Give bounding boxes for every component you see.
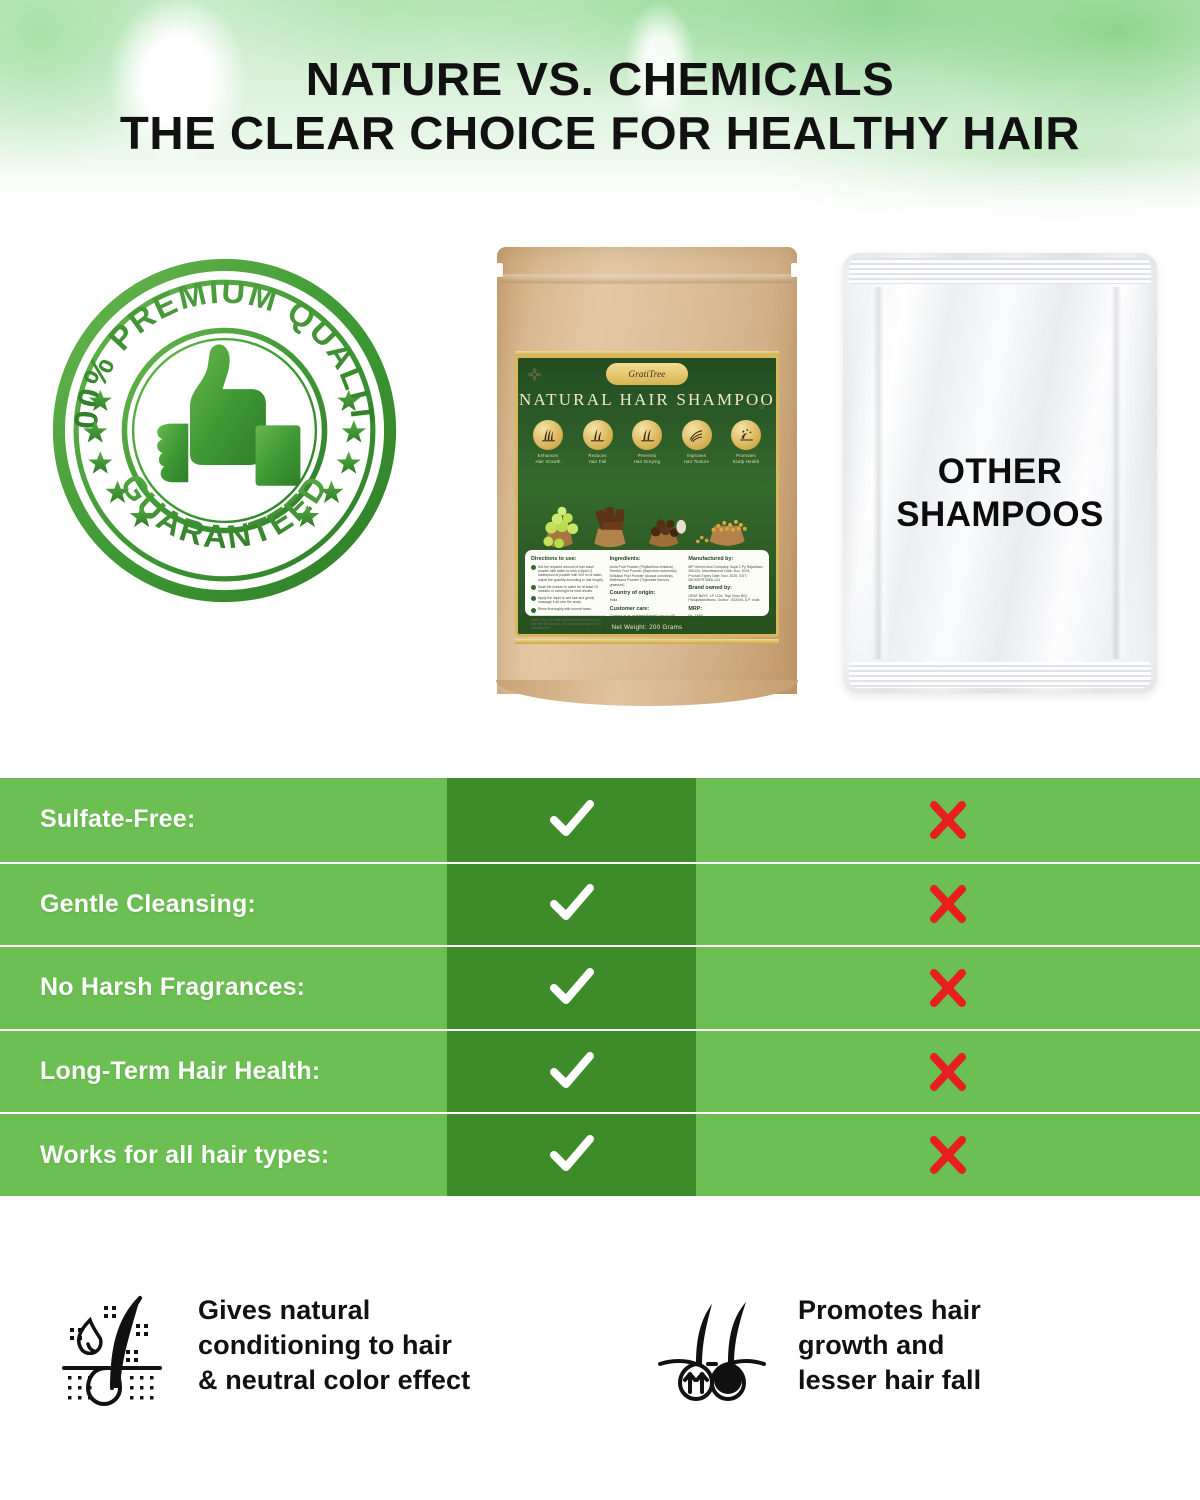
product-title: NATURAL HAIR SHAMPOO — [518, 390, 776, 410]
table-row: Long-Term Hair Health: — [0, 1029, 1200, 1113]
step-text: Mix the required amount of hair wash pow… — [538, 565, 606, 583]
benefit-label-line2: Hair Fall — [574, 459, 622, 465]
benefit-item: Improves Hair Texture — [673, 420, 721, 464]
table-row: Gentle Cleansing: — [0, 862, 1200, 946]
row-label-cell: Works for all hair types: — [0, 1114, 447, 1196]
table-row: Sulfate-Free: — [0, 778, 1200, 862]
feature-text: Gives natural conditioning to hair & neu… — [198, 1293, 470, 1398]
direction-step: Mix the required amount of hair wash pow… — [531, 565, 606, 583]
direction-step: Soak the mixture in water for at least 1… — [531, 585, 606, 594]
row-label-cell: No Harsh Fragrances: — [0, 947, 447, 1029]
table-row: Works for all hair types: — [0, 1112, 1200, 1196]
other-shampoos-line-1: OTHER — [843, 450, 1157, 493]
premium-quality-badge: 100% PREMIUM QUALITY GUARANTEED — [52, 258, 397, 603]
ours-cell — [447, 947, 696, 1029]
ingredients-column: Ingredients: Amla Fruit Powder (Phyllant… — [610, 556, 685, 612]
label-gold-bar-bottom — [515, 639, 779, 644]
benefit-item: Prevents Hair Greying — [623, 420, 671, 464]
row-label-cell: Sulfate-Free: — [0, 778, 447, 862]
table-row: No Harsh Fragrances: — [0, 945, 1200, 1029]
label-info-panel: Directions to use: Mix the required amou… — [525, 550, 769, 616]
step-bullet — [531, 565, 536, 570]
page-title: NATURE VS. CHEMICALS THE CLEAR CHOICE FO… — [0, 52, 1200, 160]
hair-fall-icon — [583, 420, 613, 450]
ingredients-heading: Ingredients: — [610, 556, 685, 562]
directions-column: Directions to use: Mix the required amou… — [531, 556, 606, 612]
row-label-cell: Gentle Cleansing: — [0, 864, 447, 946]
other-shampoos-line-2: SHAMPOOS — [843, 493, 1157, 536]
row-label: Long-Term Hair Health: — [0, 1057, 320, 1086]
hair-follicle-growth-arrows-icon — [652, 1280, 772, 1410]
ours-cell — [447, 1114, 696, 1196]
feature-line-2: growth and — [798, 1328, 981, 1363]
benefit-icon-row: Enhances Hair Growth Reduces Hair Fall P… — [524, 420, 770, 464]
hair-follicle-droplet-icon — [52, 1280, 172, 1410]
brand-logo: GratiTree — [606, 363, 688, 385]
ingredients-text: Amla Fruit Powder (Phyllanthus emblica),… — [610, 565, 685, 588]
ornament-icon-left — [528, 368, 541, 381]
cross-icon — [928, 968, 968, 1008]
brandowner-text: GRAT BAYE, LP 1126, Teja Town BIQ, Padup… — [688, 594, 763, 603]
feature-section: Gives natural conditioning to hair & neu… — [0, 1245, 1200, 1445]
feature-line-3: & neutral color effect — [198, 1363, 470, 1398]
badge-graphic: 100% PREMIUM QUALITY GUARANTEED — [52, 258, 397, 603]
benefit-item: Promotes Scalp Health — [722, 420, 770, 464]
others-cell — [696, 1031, 1200, 1113]
brandowner-heading: Brand owned by: — [688, 585, 763, 591]
manufacturer-column: Manufactured by: MP Gemini and Company, … — [688, 556, 763, 612]
step-text: Rinse thoroughly with normal water. — [538, 607, 592, 612]
check-icon — [549, 800, 595, 840]
benefit-label-line2: Hair Greying — [623, 459, 671, 465]
check-icon — [549, 968, 595, 1008]
customer-care-text: Contact us at: gratitree@gmail.com or +9… — [610, 614, 685, 623]
thumbs-up-icon — [157, 344, 300, 485]
feature-line-1: Promotes hair — [798, 1293, 981, 1328]
feature-text: Promotes hair growth and lesser hair fal… — [798, 1293, 981, 1398]
step-bullet — [531, 585, 536, 590]
others-cell — [696, 864, 1200, 946]
white-pouch-bottom-seal — [849, 662, 1151, 688]
manufactured-heading: Manufactured by: — [688, 556, 763, 562]
feature-item: Promotes hair growth and lesser hair fal… — [600, 1245, 1200, 1445]
scalp-health-icon — [731, 420, 761, 450]
directions-heading: Directions to use: — [531, 556, 606, 562]
methidana-bowl — [696, 520, 747, 546]
hair-texture-icon — [682, 420, 712, 450]
ingredient-bowls — [518, 486, 776, 548]
benefit-label-line2: Hair Growth — [524, 459, 572, 465]
manufactured-text: MP Gemini and Company, Sujal 2 Py Rajast… — [688, 565, 763, 583]
benefit-item: Reduces Hair Fall — [574, 420, 622, 464]
pouch-zipper-seal — [501, 274, 793, 284]
cross-icon — [928, 1052, 968, 1092]
comparison-table: Sulfate-Free: Gentle Cleansing: — [0, 778, 1200, 1196]
others-cell — [696, 1114, 1200, 1196]
feature-line-3: lesser hair fall — [798, 1363, 981, 1398]
ours-cell — [447, 864, 696, 946]
feature-line-1: Gives natural — [198, 1293, 470, 1328]
hair-growth-icon — [533, 420, 563, 450]
feature-item: Gives natural conditioning to hair & neu… — [0, 1245, 600, 1445]
growth-arrows-icon — [685, 1374, 707, 1392]
headline-line-1: NATURE VS. CHEMICALS — [0, 52, 1200, 106]
cross-icon — [928, 800, 968, 840]
others-cell — [696, 778, 1200, 862]
headline-line-2: THE CLEAR CHOICE FOR HEALTHY HAIR — [0, 106, 1200, 160]
shikakai-bowl — [594, 507, 625, 548]
step-bullet — [531, 596, 536, 601]
customer-care-heading: Customer care: — [610, 606, 685, 612]
origin-text: India — [610, 598, 685, 603]
hero-section: 100% PREMIUM QUALITY GUARANTEED — [0, 228, 1200, 720]
row-label: No Harsh Fragrances: — [0, 973, 305, 1002]
benefit-label-line2: Hair Texture — [673, 459, 721, 465]
step-text: Soak the mixture in water for at least 1… — [538, 585, 606, 594]
row-label: Gentle Cleansing: — [0, 890, 256, 919]
check-icon — [549, 884, 595, 924]
product-label: GratiTree NATURAL HAIR SHAMPOO Enhances … — [515, 355, 779, 637]
amla-bowl — [543, 507, 578, 548]
step-text: Apply the liquid to wet hair and gently … — [538, 596, 606, 605]
ours-cell — [447, 778, 696, 862]
others-cell — [696, 947, 1200, 1029]
reetha-bowl — [649, 519, 686, 546]
check-icon — [549, 1052, 595, 1092]
cross-icon — [928, 884, 968, 924]
hair-greying-icon — [632, 420, 662, 450]
other-shampoos-pouch: OTHER SHAMPOOS — [843, 253, 1157, 693]
ingredient-photo-strip — [518, 486, 776, 548]
badge-arc-bottom-text: GUARANTEED — [113, 467, 336, 555]
net-weight-text: Net Weight: 200 Grams — [518, 624, 776, 631]
watercolor-fade — [0, 155, 1200, 235]
direction-step: Rinse thoroughly with normal water. — [531, 607, 606, 612]
ours-cell — [447, 1031, 696, 1113]
row-label: Works for all hair types: — [0, 1141, 329, 1170]
step-bullet — [531, 608, 536, 613]
mrp-heading: MRP: — [688, 606, 763, 612]
mrp-value: Rs. 1480/- — [688, 614, 763, 619]
white-pouch-top-seal — [849, 258, 1151, 284]
feature-line-2: conditioning to hair — [198, 1328, 470, 1363]
direction-step: Apply the liquid to wet hair and gently … — [531, 596, 606, 605]
cross-icon — [928, 1135, 968, 1175]
origin-heading: Country of origin: — [610, 590, 685, 596]
benefit-label-line2: Scalp Health — [722, 459, 770, 465]
row-label-cell: Long-Term Hair Health: — [0, 1031, 447, 1113]
natural-shampoo-pouch: GratiTree NATURAL HAIR SHAMPOO Enhances … — [497, 247, 797, 694]
other-shampoos-label: OTHER SHAMPOOS — [843, 450, 1157, 536]
benefit-item: Enhances Hair Growth — [524, 420, 572, 464]
check-icon — [549, 1135, 595, 1175]
row-label: Sulfate-Free: — [0, 805, 195, 834]
